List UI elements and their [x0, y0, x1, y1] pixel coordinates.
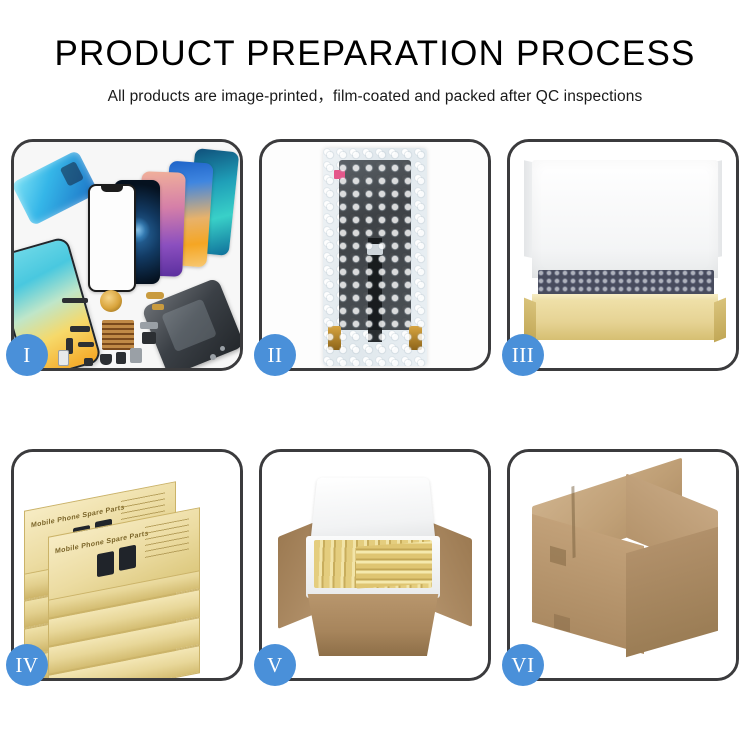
- step-6-photo: [510, 452, 736, 678]
- process-steps-grid: I II: [11, 139, 739, 681]
- screw-icon: [210, 354, 216, 360]
- step-badge-6: VI: [502, 644, 544, 686]
- spare-part-icon: [142, 332, 156, 344]
- page-subtitle: All products are image-printed，film-coat…: [0, 84, 750, 106]
- carton-front-icon: [302, 594, 444, 656]
- step-badge-3: III: [502, 334, 544, 376]
- step-1-photo: [14, 142, 240, 368]
- spare-part-icon: [78, 342, 94, 347]
- coil-part-icon: [100, 290, 122, 312]
- step-badge-1: I: [6, 334, 48, 376]
- spare-part-icon: [70, 326, 90, 332]
- step-2-photo: [262, 142, 488, 368]
- spare-part-icon: [58, 350, 69, 366]
- foam-lid-icon: [310, 477, 435, 542]
- spare-part-icon: [146, 292, 164, 299]
- process-step-panel-3[interactable]: III: [507, 139, 739, 371]
- bubble-wrap-overlay-icon: [323, 148, 427, 366]
- product-preparation-infographic: PRODUCT PREPARATION PROCESS All products…: [0, 0, 750, 750]
- screen-graphic-icon: [97, 551, 114, 577]
- step-4-photo: Mobile Phone Spare Parts Mobile Phone Sp…: [14, 452, 240, 678]
- page-title: PRODUCT PREPARATION PROCESS: [0, 36, 750, 73]
- white-foam-lid-icon: [532, 160, 718, 278]
- step-badge-2: II: [254, 334, 296, 376]
- copper-grid-part-icon: [102, 320, 134, 350]
- spare-part-icon: [152, 304, 164, 310]
- step-badge-5: V: [254, 644, 296, 686]
- process-step-panel-4[interactable]: Mobile Phone Spare Parts Mobile Phone Sp…: [11, 449, 243, 681]
- packed-boxes-icon: [356, 541, 432, 588]
- box-stack: Mobile Phone Spare Parts Mobile Phone Sp…: [14, 452, 240, 678]
- step-5-photo: [262, 452, 488, 678]
- spare-part-icon: [130, 348, 142, 363]
- phone-screen-white-icon: [88, 184, 136, 292]
- kraft-box-front-icon: [532, 300, 718, 340]
- header: PRODUCT PREPARATION PROCESS All products…: [0, 0, 750, 106]
- step-3-photo: [510, 142, 736, 368]
- process-step-panel-1[interactable]: I: [11, 139, 243, 371]
- spare-part-icon: [84, 358, 93, 366]
- spare-part-icon: [140, 322, 158, 329]
- process-step-panel-2[interactable]: II: [259, 139, 491, 371]
- box-spec-lines-icon: [145, 518, 189, 561]
- spare-part-icon: [62, 298, 88, 303]
- process-step-panel-6[interactable]: VI: [507, 449, 739, 681]
- screen-graphic-icon: [119, 545, 136, 571]
- step-badge-4: IV: [6, 644, 48, 686]
- spare-part-icon: [116, 352, 126, 364]
- phone-screen-fan: [76, 150, 236, 285]
- spare-part-icon: [100, 354, 112, 365]
- screw-icon: [220, 346, 225, 351]
- process-step-panel-5[interactable]: V: [259, 449, 491, 681]
